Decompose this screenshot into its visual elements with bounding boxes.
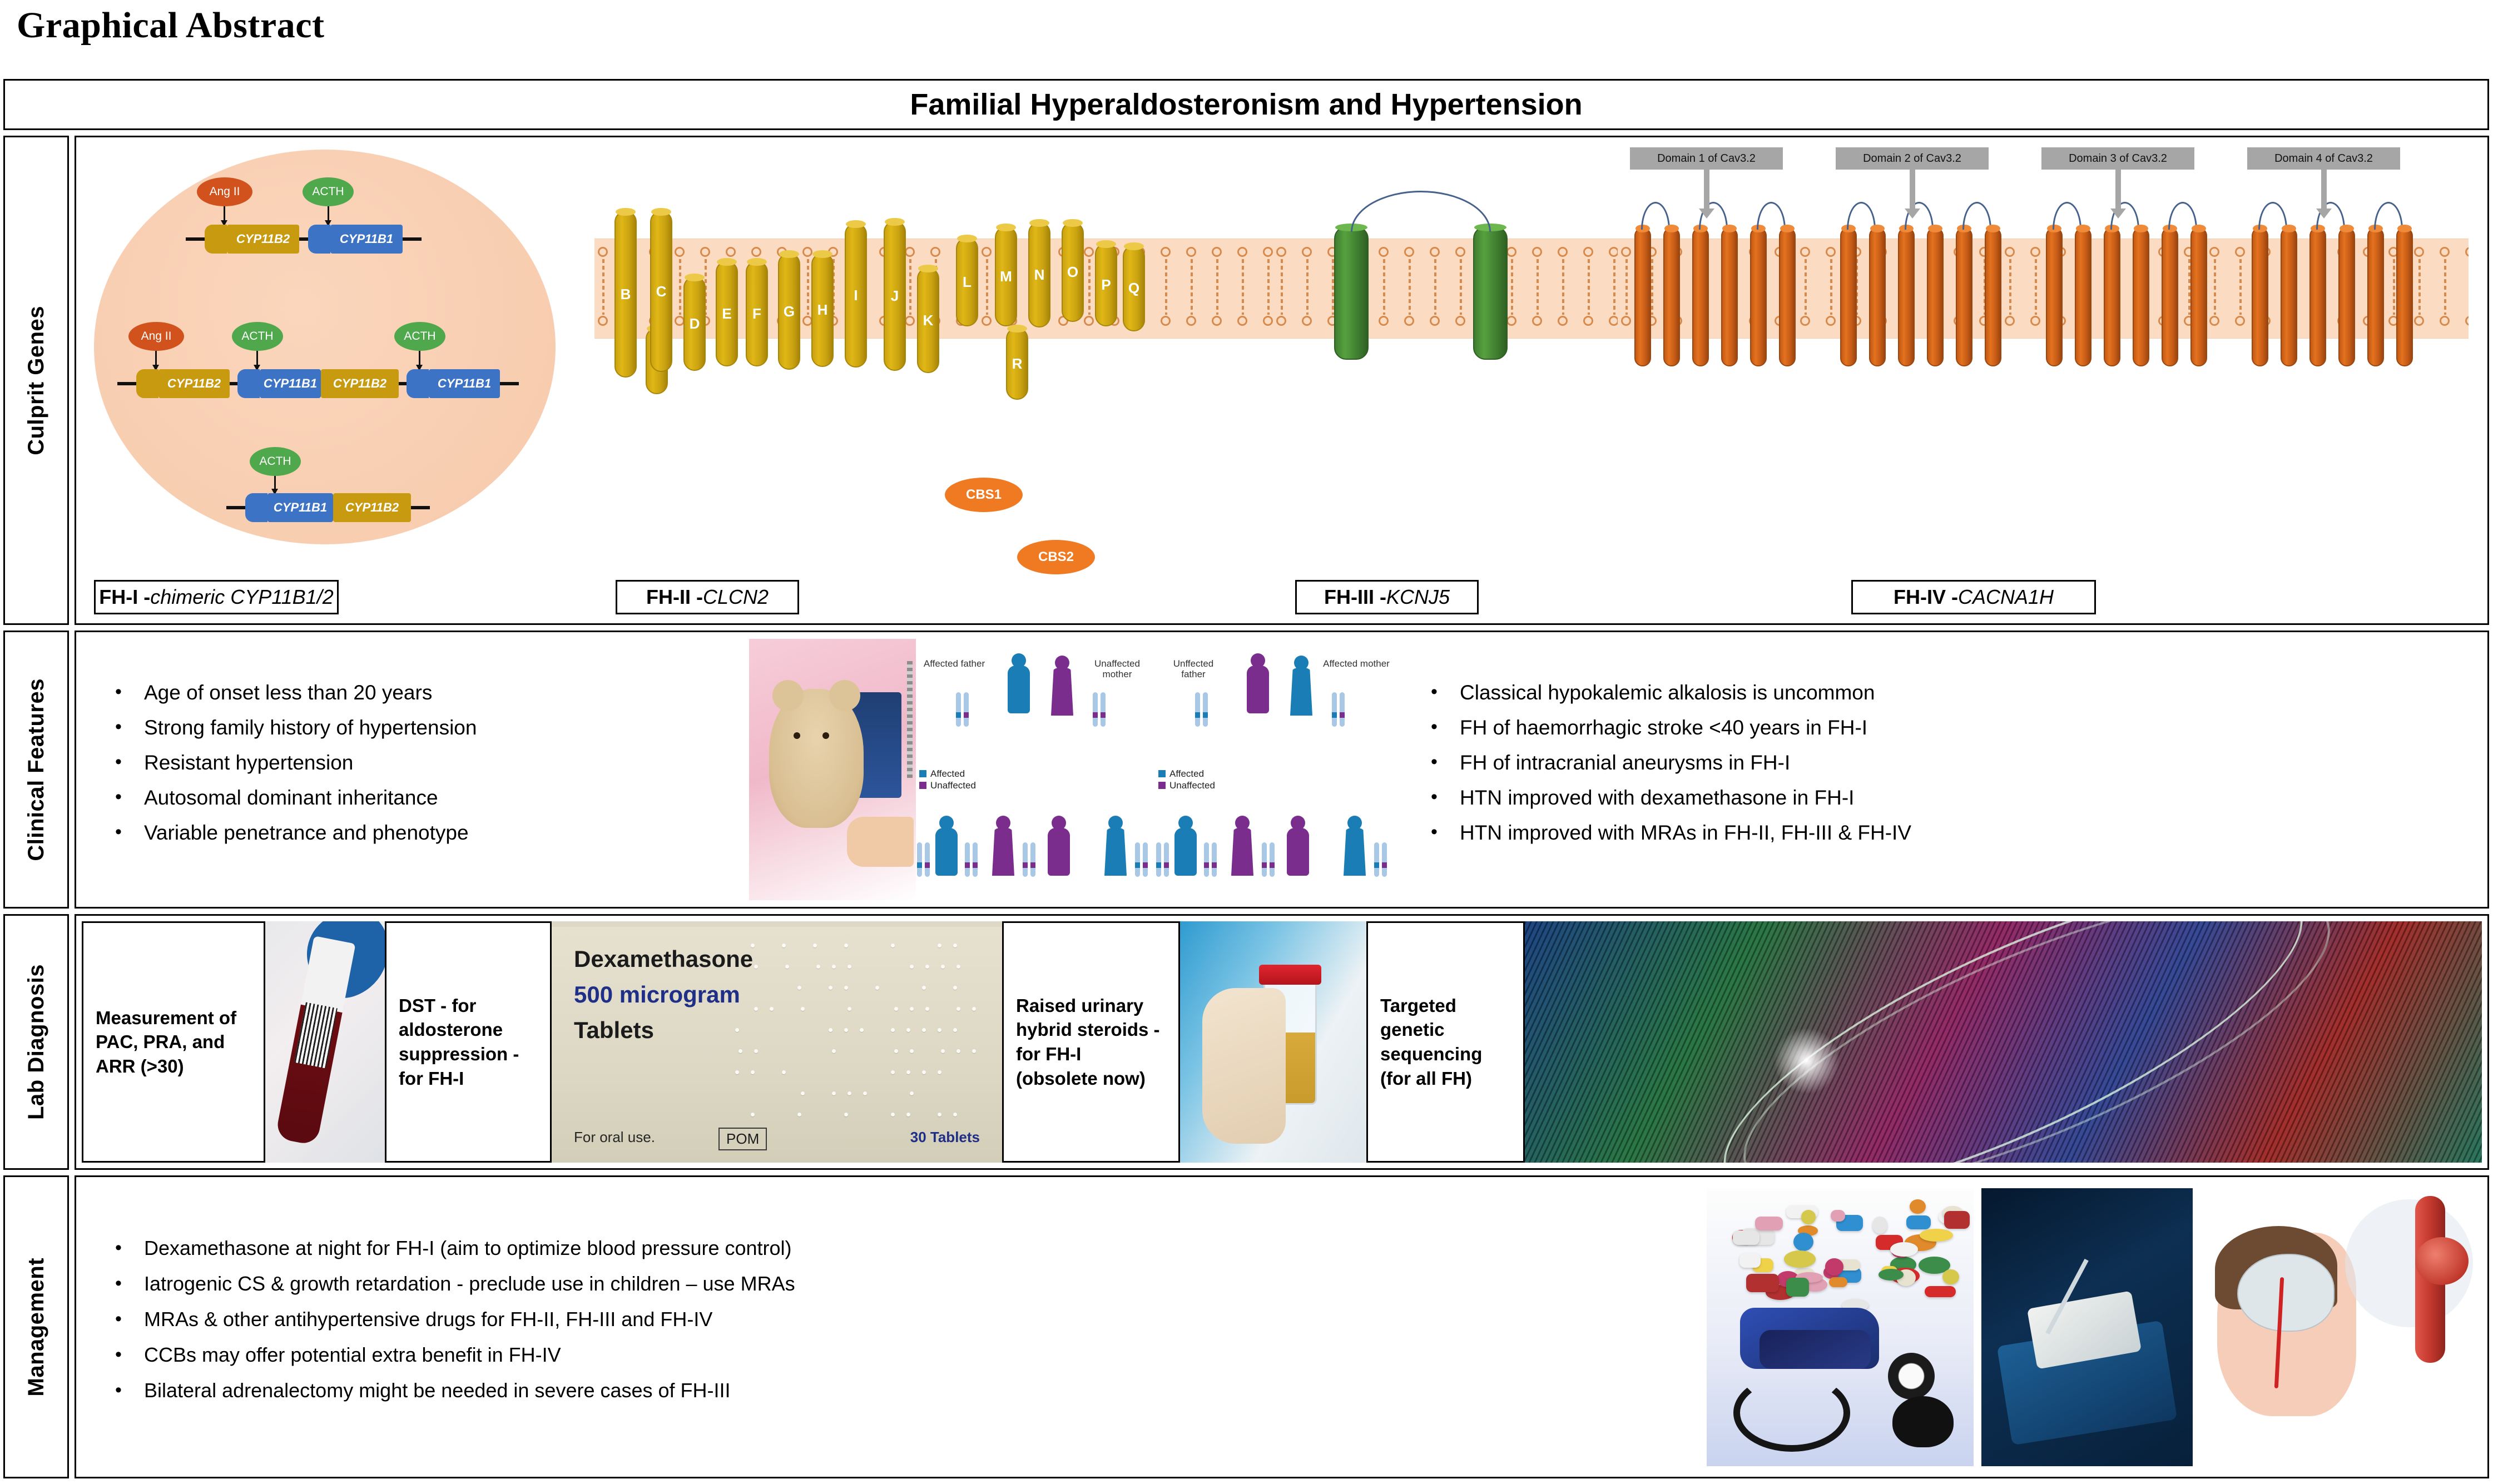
pill — [1755, 1217, 1783, 1230]
child-figure — [930, 816, 963, 882]
bullet-icon: • — [115, 752, 144, 773]
bullet-icon: • — [1431, 717, 1460, 738]
pill — [1831, 1210, 1845, 1222]
cav-helix-d3s5 — [2162, 227, 2178, 366]
management-bullet: •Dexamethasone at night for FH-I (aim to… — [115, 1238, 1707, 1258]
caption-fh1: FH-I - chimeric CYP11B1/2 — [94, 580, 339, 614]
caption-fh2: FH-II - CLCN2 — [616, 580, 799, 614]
dex-strength: 500 microgram — [574, 981, 740, 1008]
mother-figure — [1282, 656, 1321, 738]
hormone-acth: ACTH — [394, 322, 445, 351]
mother-chromosomes — [1332, 692, 1345, 727]
bullet-icon: • — [115, 1345, 144, 1365]
bullet-text: Resistant hypertension — [144, 752, 353, 773]
cav-helix-d2s3 — [1898, 227, 1915, 366]
helix-label: D — [690, 315, 700, 332]
cav-helix-d2s1 — [1840, 227, 1857, 366]
clinical-bullet: •FH of intracranial aneurysms in FH-I — [1431, 752, 2487, 773]
clcn2-helix-g: G — [778, 253, 800, 370]
row-label-management: Management — [3, 1175, 69, 1478]
clcn2-helix-q: Q — [1123, 245, 1145, 331]
lab-card-dst: DST - for aldosterone suppression - for … — [385, 921, 552, 1163]
arrow-icon — [419, 351, 420, 370]
clcn2-helix-d: D — [683, 276, 706, 371]
dex-form: Tablets — [574, 1017, 654, 1044]
child-chromosomes — [1156, 842, 1169, 877]
bullet-text: HTN improved with MRAs in FH-II, FH-III … — [1460, 822, 1911, 843]
row-management: Management •Dexamethasone at night for F… — [3, 1175, 2489, 1478]
management-bullet: •CCBs may offer potential extra benefit … — [115, 1345, 1707, 1365]
bullet-text: Autosomal dominant inheritance — [144, 787, 438, 808]
caption-fh3: FH-III - KCNJ5 — [1295, 580, 1479, 614]
arrow-icon — [155, 351, 157, 370]
bullet-icon: • — [115, 822, 144, 843]
cav-helix-d1s5 — [1750, 227, 1767, 366]
dex-name: Dexamethasone — [574, 946, 753, 972]
management-bullet: •Bilateral adrenalectomy might be needed… — [115, 1381, 1707, 1401]
lipid-bilayer — [1273, 239, 1618, 339]
pill — [1925, 1286, 1955, 1297]
cav-helix-d3s1 — [2046, 227, 2063, 366]
cbs2-domain: CBS2 — [1017, 540, 1095, 574]
bullet-icon: • — [115, 682, 144, 703]
pedigree-father-label: Unffected father — [1161, 659, 1226, 679]
row-label-culprit-genes: Culprit Genes — [3, 136, 69, 625]
bullet-icon: • — [115, 1238, 144, 1258]
helix-label: J — [891, 287, 899, 305]
clinical-bullet: •Autosomal dominant inheritance — [115, 787, 749, 808]
bullet-text: FH of intracranial aneurysms in FH-I — [1460, 752, 1790, 773]
clcn2-helix-c: C — [650, 211, 672, 372]
pill — [1784, 1250, 1816, 1268]
domain-tag-3: Domain 3 of Cav3.2 — [2041, 147, 2194, 170]
clcn2-helix-e: E — [716, 261, 738, 366]
bullet-text: Variable penetrance and phenotype — [144, 822, 469, 843]
bullet-text: FH of haemorrhagic stroke <40 years in F… — [1460, 717, 1867, 738]
pedigree-mother-label: Unaffected mother — [1084, 659, 1151, 679]
pedigree-legend: Affected Unaffected — [1158, 768, 1215, 792]
bullet-text: MRAs & other antihypertensive drugs for … — [144, 1309, 712, 1329]
helix-label: B — [621, 286, 631, 303]
pill — [1746, 1274, 1779, 1292]
row-label-clinical-features: Clinical Features — [3, 631, 69, 909]
child-chromosomes — [1262, 842, 1275, 877]
child-chromosomes — [1204, 842, 1217, 877]
clinical-bullet: •FH of haemorrhagic stroke <40 years in … — [1431, 717, 2487, 738]
helix-label: M — [1000, 268, 1012, 285]
pill — [1801, 1210, 1816, 1224]
pill — [1879, 1269, 1904, 1280]
row-label-lab-diagnosis: Lab Diagnosis — [3, 914, 69, 1170]
bullet-text: Classical hypokalemic alkalosis is uncom… — [1460, 682, 1875, 703]
domain-tag-2: Domain 2 of Cav3.2 — [1836, 147, 1989, 170]
clcn2-helix-b: B — [614, 211, 637, 378]
gene-construct-3: CYP11B1 CYP11B2 — [226, 493, 430, 522]
page-title: Graphical Abstract — [17, 4, 324, 47]
bullet-text: Dexamethasone at night for FH-I (aim to … — [144, 1238, 792, 1258]
domain-tag-1: Domain 1 of Cav3.2 — [1630, 147, 1783, 170]
father-chromosomes — [956, 692, 969, 727]
abstract-sheet: Familial Hyperaldosteronism and Hyperten… — [3, 79, 2489, 1484]
pill — [1786, 1278, 1809, 1297]
father-chromosomes — [1195, 692, 1208, 727]
arrow-icon — [256, 351, 258, 370]
dna-sequencing-photo — [1525, 921, 2482, 1163]
pill — [1793, 1233, 1813, 1251]
gene-construct-2: CYP11B2 CYP11B1 CYP11B2 CYP11B1 — [117, 369, 519, 398]
domain-arrow-icon — [2115, 170, 2121, 210]
cav-helix-d1s2 — [1663, 227, 1680, 366]
adrenalectomy-surgery-photo — [1981, 1188, 2193, 1466]
pedigree-mother-label: Affected mother — [1323, 659, 1390, 669]
clinical-bullets-left: •Age of onset less than 20 years•Strong … — [76, 682, 749, 857]
pedigree-father-label: Affected father — [921, 659, 987, 669]
bullet-text: Bilateral adrenalectomy might be needed … — [144, 1381, 731, 1401]
arrow-icon — [224, 206, 225, 225]
domain-tag-4: Domain 4 of Cav3.2 — [2247, 147, 2400, 170]
arrow-icon — [274, 476, 276, 494]
clcn2-helix-j: J — [884, 221, 906, 371]
cav-helix-d4s4 — [2338, 227, 2355, 366]
panel-fh1: Ang II ACTH CYP11B2 CYP11B1 Ang II — [83, 144, 594, 617]
pill — [1829, 1277, 1847, 1287]
pill — [1825, 1258, 1844, 1275]
hormone-acth: ACTH — [303, 177, 354, 206]
pill — [1906, 1215, 1931, 1229]
bullet-icon: • — [1431, 822, 1460, 843]
child-figure — [1043, 816, 1075, 882]
domain-arrow-icon — [1910, 170, 1915, 210]
helix-label: L — [963, 274, 972, 291]
child-chromosomes — [917, 842, 930, 877]
child-figure — [1226, 816, 1258, 882]
lab-card-urinary-steroids: Raised urinary hybrid steroids - for FH-… — [1002, 921, 1180, 1163]
helix-label: G — [784, 303, 795, 320]
child-chromosomes — [965, 842, 978, 877]
lab-card-pac-pra-arr: Measurement of PAC, PRA, and ARR (>30) — [82, 921, 265, 1163]
pill — [1733, 1230, 1760, 1245]
cbs1-domain: CBS1 — [945, 478, 1023, 512]
kcnj5-helix-m2 — [1473, 226, 1508, 360]
gene-construct-1: CYP11B2 CYP11B1 — [186, 225, 422, 254]
father-figure — [999, 653, 1038, 737]
cav-helix-d1s3 — [1692, 227, 1709, 366]
pill — [1890, 1242, 1918, 1257]
arrow-icon — [328, 206, 329, 225]
management-bullet: •MRAs & other antihypertensive drugs for… — [115, 1309, 1707, 1329]
panel-fh4: Domain 1 of Cav3.2Domain 2 of Cav3.2Doma… — [1618, 144, 2469, 617]
bullet-text: CCBs may offer potential extra benefit i… — [144, 1345, 561, 1365]
father-figure — [1238, 653, 1277, 737]
helix-label: O — [1067, 264, 1078, 281]
bullet-icon: • — [115, 1274, 144, 1294]
management-body: •Dexamethasone at night for FH-I (aim to… — [75, 1175, 2489, 1478]
cav-helix-d4s2 — [2281, 227, 2297, 366]
panel-fh3: FH-III - KCNJ5 — [1273, 144, 1618, 617]
bullet-icon: • — [115, 787, 144, 808]
clinical-bullet: •HTN improved with dexamethasone in FH-I — [1431, 787, 2487, 808]
clinical-features-body: •Age of onset less than 20 years•Strong … — [75, 631, 2489, 909]
pill — [1942, 1269, 1959, 1285]
clinical-bullet: •Age of onset less than 20 years — [115, 682, 749, 703]
helix-label: R — [1012, 355, 1023, 373]
child-figure — [987, 816, 1019, 882]
kcnj5-helix-m1 — [1334, 226, 1369, 360]
bullet-text: Age of onset less than 20 years — [144, 682, 432, 703]
pedigree-affected-father: Affected father Unaffected mother Affect… — [916, 639, 1155, 900]
clcn2-helix-h: H — [811, 253, 834, 367]
cav-helix-d4s6 — [2396, 227, 2413, 366]
child-blood-pressure-photo — [749, 639, 916, 900]
child-figure — [1099, 816, 1132, 882]
dexamethasone-box-photo: Dexamethasone 500 microgram Tablets For … — [552, 921, 1002, 1163]
cav-helix-d1s6 — [1779, 227, 1796, 366]
banner-title: Familial Hyperaldosteronism and Hyperten… — [910, 87, 1582, 122]
dex-oral-use: For oral use. — [574, 1129, 655, 1146]
pill — [1739, 1253, 1761, 1268]
child-figure — [1169, 816, 1202, 882]
intracranial-aneurysm-illustration — [2200, 1188, 2479, 1466]
cav-helix-d3s4 — [2133, 227, 2149, 366]
lab-card-genetic-sequencing: Targeted genetic sequencing (for all FH) — [1366, 921, 1525, 1163]
bullet-text: HTN improved with dexamethasone in FH-I — [1460, 787, 1854, 808]
cav-helix-d2s4 — [1927, 227, 1944, 366]
clcn2-helix-l: L — [956, 237, 978, 326]
helix-label: P — [1101, 276, 1111, 294]
pore-loop — [1351, 191, 1491, 232]
child-chromosomes — [1135, 842, 1148, 877]
child-figure — [1282, 816, 1314, 882]
clcn2-helix-n: N — [1028, 222, 1050, 327]
lab-diagnosis-body: Measurement of PAC, PRA, and ARR (>30) D… — [75, 914, 2489, 1170]
row-culprit-genes: Culprit Genes Ang II ACTH CYP11B2 — [3, 136, 2489, 625]
caption-fh4: FH-IV - CACNA1H — [1851, 580, 2096, 614]
helix-label: Q — [1128, 280, 1139, 297]
cav-helix-d4s5 — [2367, 227, 2384, 366]
cav-helix-d1s1 — [1634, 227, 1651, 366]
pills-and-bp-cuff-photo — [1707, 1188, 1974, 1466]
bullet-icon: • — [1431, 787, 1460, 808]
helix-label: H — [817, 301, 828, 319]
urine-sample-photo — [1180, 921, 1366, 1163]
helix-label: K — [923, 312, 934, 329]
row-clinical-features: Clinical Features •Age of onset less tha… — [3, 631, 2489, 909]
mother-chromosomes — [1093, 692, 1106, 727]
bullet-icon: • — [1431, 752, 1460, 773]
cav-helix-d2s6 — [1985, 227, 2001, 366]
cav-helix-d4s3 — [2309, 227, 2326, 366]
cav-helix-d2s5 — [1956, 227, 1972, 366]
hormone-ang-ii: Ang II — [128, 322, 184, 351]
helix-label: I — [854, 287, 858, 304]
clcn2-helix-i: I — [845, 223, 867, 368]
helix-label: E — [722, 305, 731, 322]
banner: Familial Hyperaldosteronism and Hyperten… — [3, 79, 2489, 130]
helix-label: F — [752, 305, 761, 322]
pedigree-legend: Affected Unaffected — [919, 768, 976, 792]
child-chromosomes — [1374, 842, 1387, 877]
culprit-genes-body: Ang II ACTH CYP11B2 CYP11B1 Ang II — [75, 136, 2489, 625]
hormone-acth: ACTH — [232, 322, 283, 351]
cav-helix-d1s4 — [1721, 227, 1738, 366]
cav-helix-d3s3 — [2104, 227, 2120, 366]
dex-count: 30 Tablets — [910, 1129, 980, 1146]
management-bullet: •Iatrogenic CS & growth retardation - pr… — [115, 1274, 1707, 1294]
clcn2-helix-o: O — [1062, 222, 1084, 322]
cav-helix-d2s2 — [1869, 227, 1886, 366]
clcn2-helix-k: K — [917, 267, 939, 373]
domain-arrow-icon — [1704, 170, 1709, 210]
domain-arrow-icon — [2321, 170, 2327, 210]
bullet-icon: • — [115, 1309, 144, 1329]
clcn2-helix-p: P — [1095, 243, 1117, 326]
clcn2-helix-m: M — [995, 226, 1017, 326]
clinical-bullet: •Classical hypokalemic alkalosis is unco… — [1431, 682, 2487, 703]
clcn2-helix-f: F — [746, 261, 768, 366]
clinical-bullet: •HTN improved with MRAs in FH-II, FH-III… — [1431, 822, 2487, 843]
cav-helix-d3s2 — [2075, 227, 2091, 366]
pill — [1910, 1199, 1926, 1214]
child-chromosomes — [1023, 842, 1035, 877]
clinical-bullet: •Variable penetrance and phenotype — [115, 822, 749, 843]
management-bullets: •Dexamethasone at night for FH-I (aim to… — [76, 1238, 1707, 1416]
clinical-bullet: •Resistant hypertension — [115, 752, 749, 773]
child-figure — [1339, 816, 1371, 882]
helix-label: N — [1034, 266, 1045, 284]
clinical-bullets-right: •Classical hypokalemic alkalosis is unco… — [1394, 682, 2487, 857]
bullet-icon: • — [115, 717, 144, 738]
bullet-icon: • — [115, 1381, 144, 1401]
row-lab-diagnosis: Lab Diagnosis Measurement of PAC, PRA, a… — [3, 914, 2489, 1170]
dex-pom-badge: POM — [718, 1128, 767, 1150]
pill — [1920, 1229, 1953, 1242]
clcn2-helix-r: R — [1006, 327, 1028, 400]
helix-label: C — [656, 283, 667, 300]
cav-helix-d3s6 — [2190, 227, 2207, 366]
bullet-icon: • — [1431, 682, 1460, 703]
bullet-text: Strong family history of hypertension — [144, 717, 477, 738]
hormone-acth: ACTH — [250, 447, 301, 476]
blood-sample-photo — [265, 921, 385, 1163]
panel-fh2: ABCDEFGHIJKLMNOPQR CBS1 CBS2 FH-II - CLC… — [594, 144, 1273, 617]
mother-figure — [1043, 656, 1082, 738]
hormone-ang-ii: Ang II — [197, 177, 252, 206]
cav-helix-d4s1 — [2252, 227, 2268, 366]
pedigree-affected-mother: Unffected father Affected mother Affecte… — [1155, 639, 1394, 900]
pill — [1872, 1217, 1887, 1234]
pill — [1944, 1211, 1970, 1229]
clinical-bullet: •Strong family history of hypertension — [115, 717, 749, 738]
bullet-text: Iatrogenic CS & growth retardation - pre… — [144, 1274, 795, 1294]
